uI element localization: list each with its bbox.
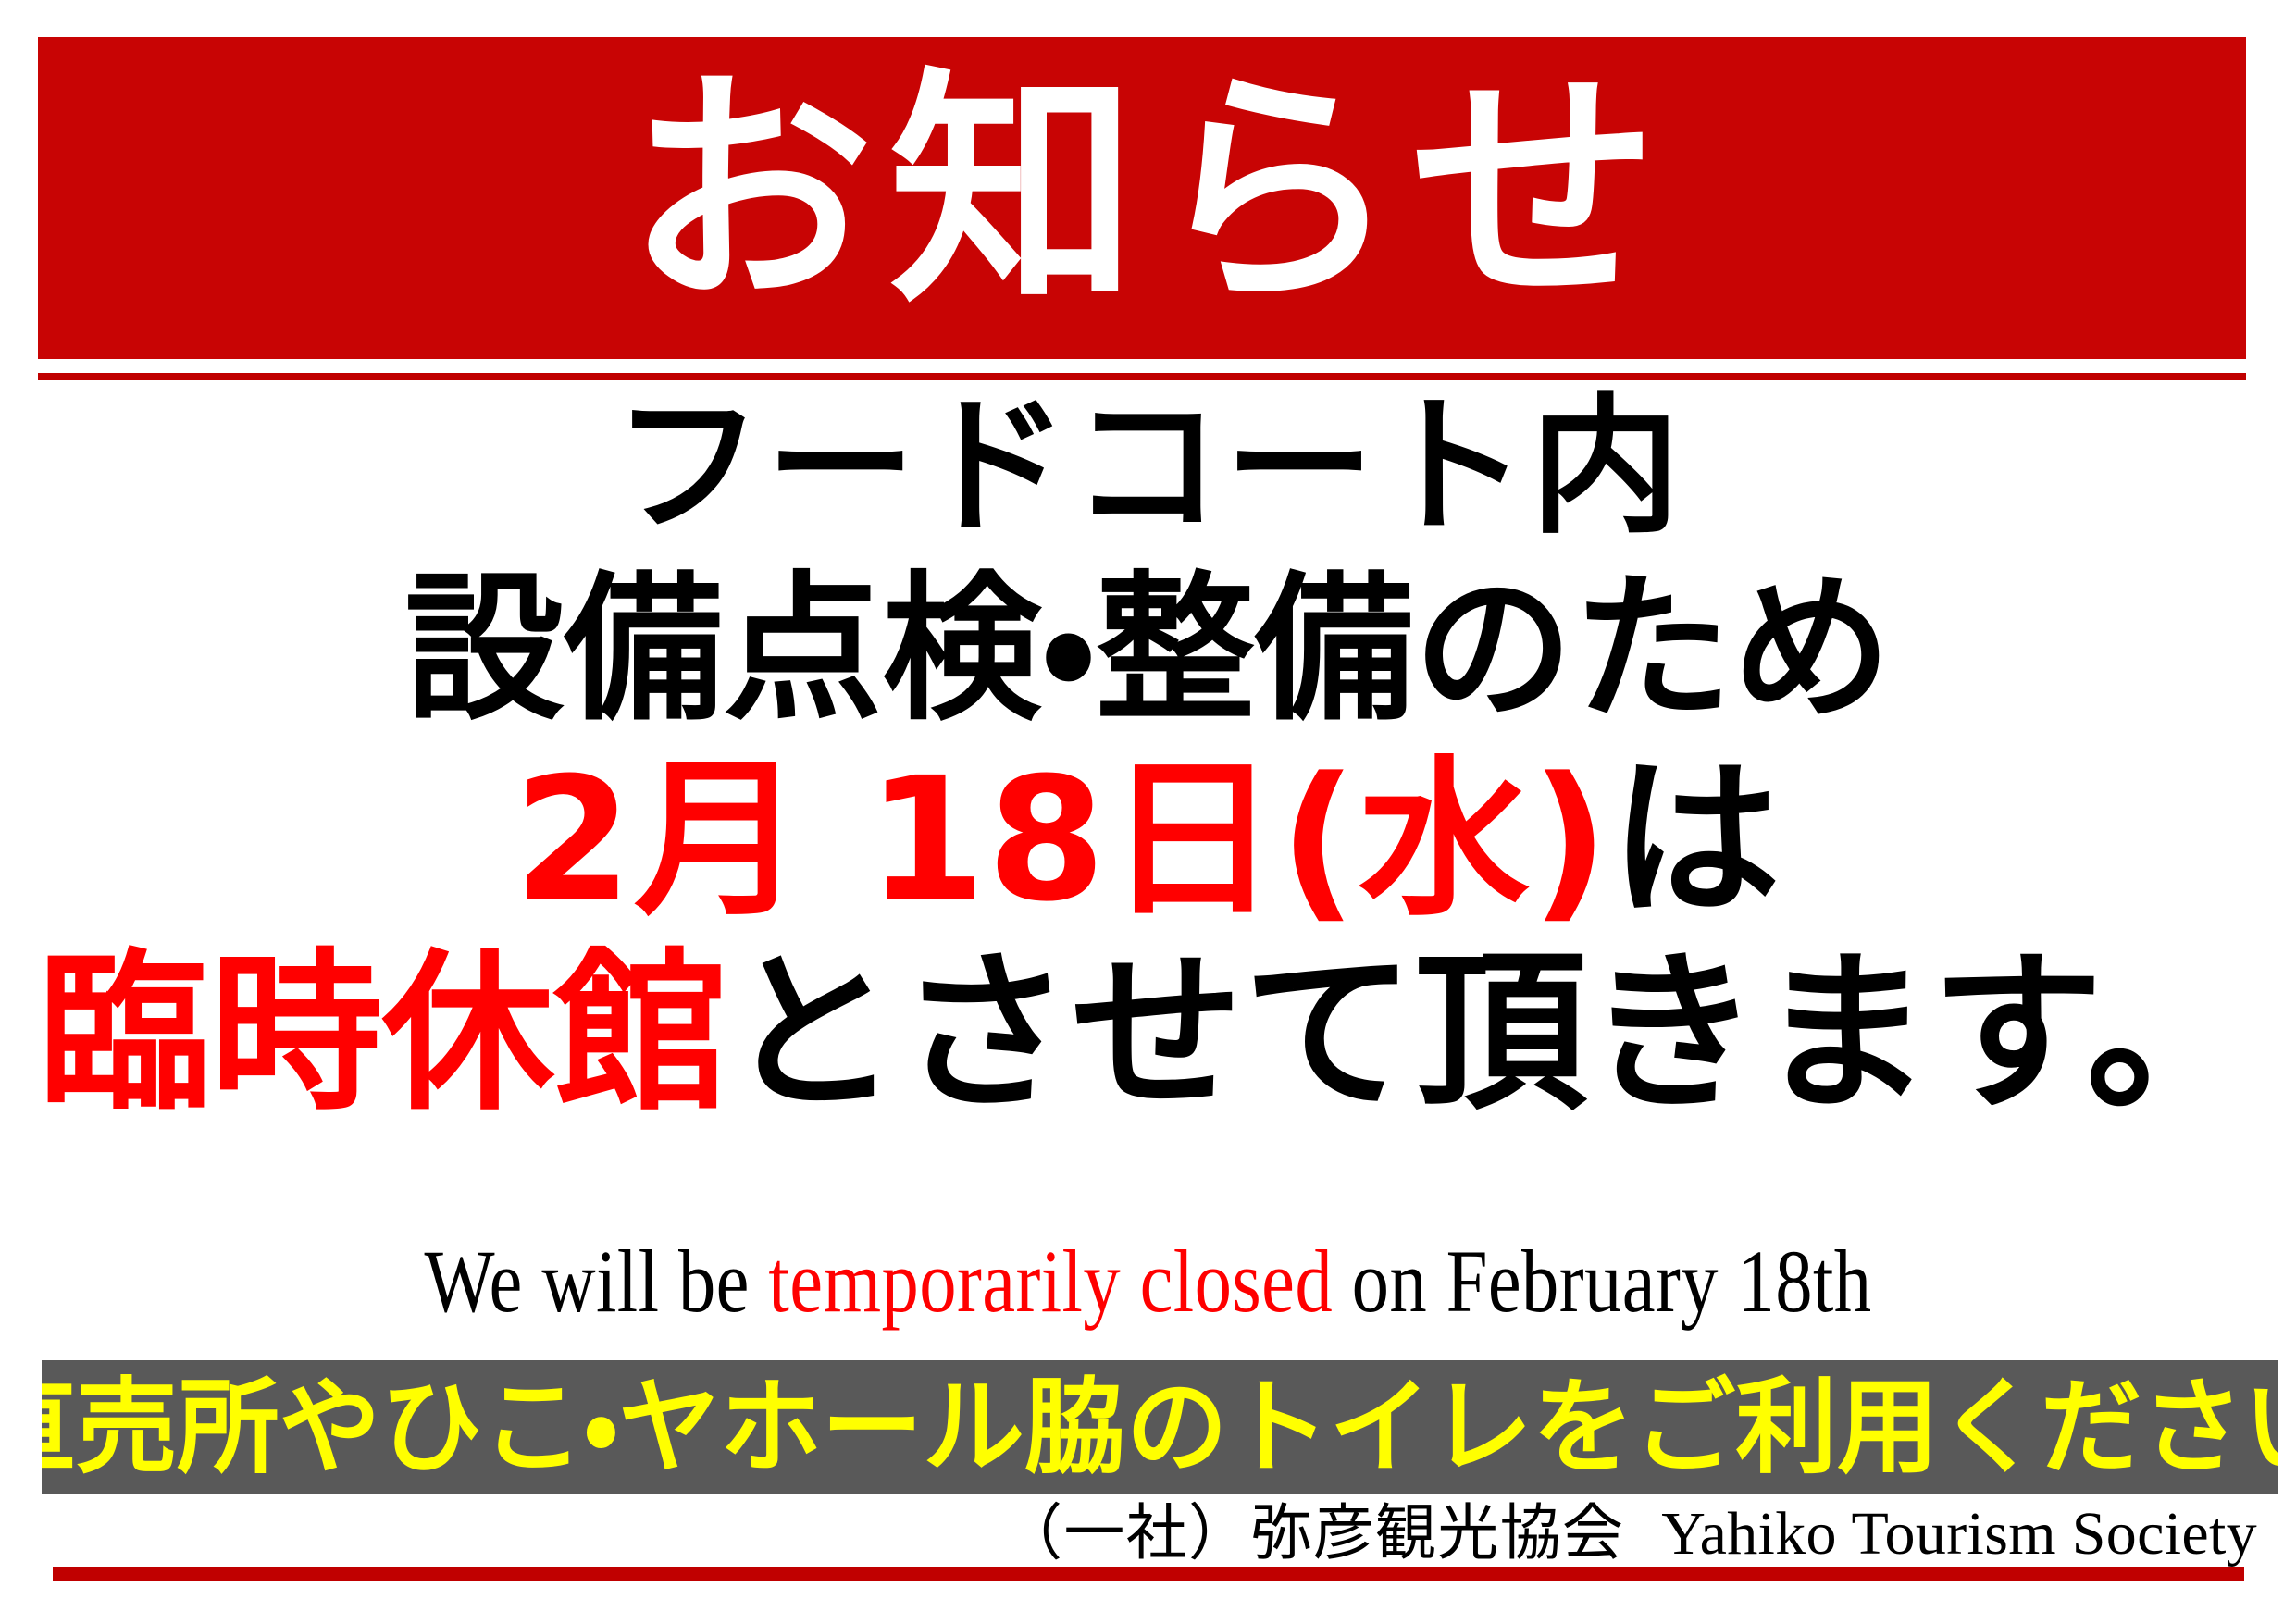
notice-line-date: 2月 18日(水)は	[0, 755, 2296, 925]
notice-line-english: We will be temporarily closed on Februar…	[183, 1237, 2112, 1326]
divider-under-banner	[38, 373, 2246, 380]
english-prefix: We will be	[424, 1232, 768, 1331]
closure-sentence-tail: とさせて頂きます。	[726, 933, 2258, 1134]
closure-date: 2月 18日(水)	[514, 741, 1610, 939]
alternate-restroom-band: 直売所やひこ・ヤホール脇のトイレをご利用ください	[42, 1360, 2278, 1494]
footer-credit: （一社）弥彦観光協会Yahiko Tourism Society	[0, 1503, 2296, 1565]
alternate-restroom-text: 直売所やひこ・ヤホール脇のトイレをご利用ください	[42, 1376, 2278, 1480]
notice-line-location: フードコート内	[0, 392, 2296, 542]
divider-bottom	[53, 1567, 2244, 1581]
header-banner: お知らせ	[38, 37, 2246, 359]
date-particle: は	[1610, 741, 1782, 939]
english-suffix: on February 18th	[1333, 1232, 1871, 1331]
notice-line-closure: 臨時休館とさせて頂きます。	[0, 948, 2296, 1120]
closure-keyword: 臨時休館	[38, 933, 726, 1134]
notice-body: フードコート内 設備点検・整備のため 2月 18日(水)は 臨時休館とさせて頂き…	[0, 392, 2296, 1120]
page-title: お知らせ	[611, 68, 1672, 316]
english-highlight: temporarily closed	[768, 1232, 1333, 1331]
organization-name-jp: （一社）弥彦観光協会	[1001, 1497, 1624, 1568]
notice-line-reason: 設備点検・整備のため	[0, 570, 2296, 729]
organization-name-en: Yahiko Tourism Society	[1624, 1500, 2257, 1568]
